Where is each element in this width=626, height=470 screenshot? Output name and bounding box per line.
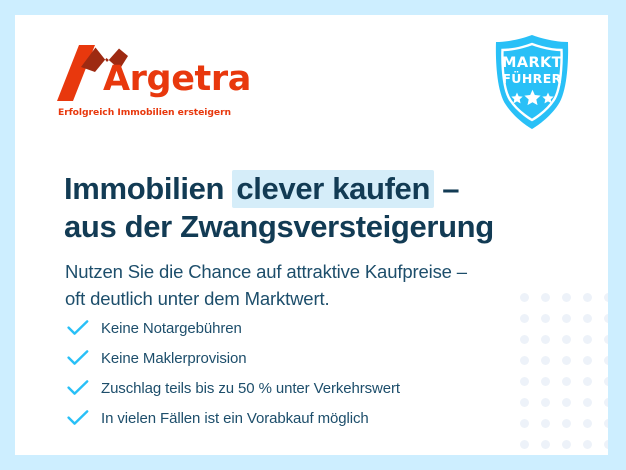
headline: Immobilien clever kaufen –aus der Zwangs… (64, 170, 564, 246)
subheadline-line-2: oft deutlich unter dem Marktwert. (65, 288, 329, 309)
dot (604, 293, 608, 302)
dot (583, 356, 592, 365)
dot (583, 440, 592, 449)
dot (583, 335, 592, 344)
dot (604, 419, 608, 428)
benefit-item: Zuschlag teils bis zu 50 % unter Verkehr… (67, 373, 547, 403)
dot (604, 377, 608, 386)
check-icon (67, 319, 91, 337)
subheadline: Nutzen Sie die Chance auf attraktive Kau… (65, 258, 565, 313)
benefit-item: Keine Maklerprovision (67, 343, 547, 373)
dot (604, 440, 608, 449)
dot (562, 377, 571, 386)
dot (562, 440, 571, 449)
argetra-logo: Argetra Erfolgreich Immobilien ersteiger… (57, 45, 247, 127)
dot (583, 293, 592, 302)
benefit-list: Keine NotargebührenKeine Maklerprovision… (67, 313, 547, 433)
check-icon (67, 409, 91, 427)
dot (583, 398, 592, 407)
dot (583, 314, 592, 323)
banner-card: Argetra Erfolgreich Immobilien ersteiger… (15, 15, 608, 455)
headline-highlight: clever kaufen (232, 170, 434, 208)
dot (562, 335, 571, 344)
dot (583, 377, 592, 386)
logo-wordmark: Argetra (103, 62, 251, 97)
shield-badge-icon (488, 33, 576, 131)
benefit-item: Keine Notargebühren (67, 313, 547, 343)
dot (520, 440, 529, 449)
subheadline-line-1: Nutzen Sie die Chance auf attraktive Kau… (65, 261, 467, 282)
headline-suffix: – (434, 171, 459, 206)
dot (562, 419, 571, 428)
benefit-label: In vielen Fällen ist ein Vorabkauf mögli… (101, 410, 369, 427)
headline-line-2: aus der Zwangsversteigerung (64, 209, 494, 244)
benefit-label: Keine Maklerprovision (101, 350, 246, 367)
promo-banner: Argetra Erfolgreich Immobilien ersteiger… (0, 0, 626, 470)
dot (604, 335, 608, 344)
dot (604, 314, 608, 323)
logo-tagline: Erfolgreich Immobilien ersteigern (58, 107, 231, 118)
dot (583, 419, 592, 428)
check-icon (67, 349, 91, 367)
dot (541, 440, 550, 449)
dot (604, 398, 608, 407)
dot (562, 356, 571, 365)
market-leader-badge: MARKT FÜHRER (488, 33, 576, 131)
dot (562, 314, 571, 323)
check-icon (67, 379, 91, 397)
benefit-label: Zuschlag teils bis zu 50 % unter Verkehr… (101, 380, 400, 397)
benefit-label: Keine Notargebühren (101, 320, 242, 337)
dot (604, 356, 608, 365)
headline-prefix: Immobilien (64, 171, 232, 206)
benefit-item: In vielen Fällen ist ein Vorabkauf mögli… (67, 403, 547, 433)
dot (562, 398, 571, 407)
